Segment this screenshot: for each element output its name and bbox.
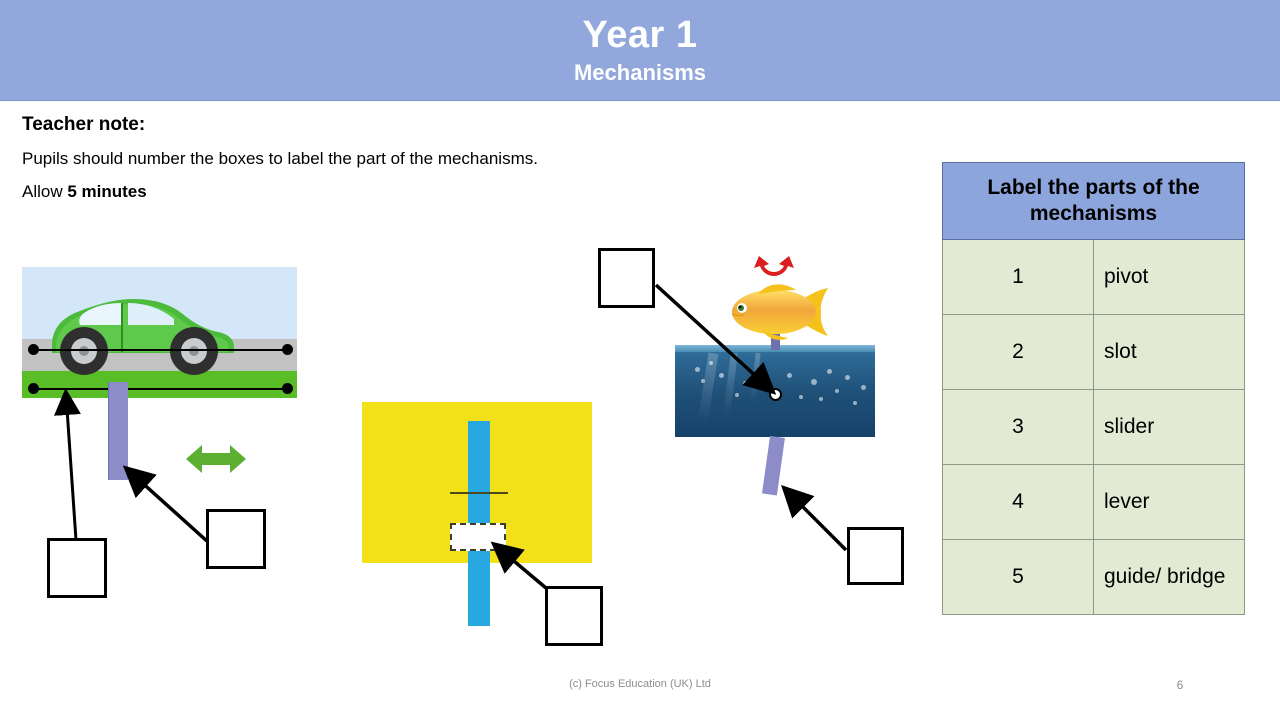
table-row: 2 slot: [943, 315, 1245, 390]
slot-cutout: [450, 523, 506, 551]
guide-dot-upper-right: [282, 344, 293, 355]
row-label: lever: [1094, 465, 1245, 540]
connector-fish-lever: [786, 490, 846, 550]
bubble: [701, 379, 705, 383]
teacher-note-line-2: Allow 5 minutes: [22, 179, 802, 204]
allow-duration: 5 minutes: [67, 182, 146, 201]
connector-car-guide: [66, 394, 76, 540]
teacher-note-heading: Teacher note:: [22, 112, 802, 138]
light-ray: [698, 353, 719, 424]
parts-label-table: Label the parts of the mechanisms 1 pivo…: [942, 162, 1245, 615]
row-label: slider: [1094, 390, 1245, 465]
bubble: [743, 381, 748, 386]
car-slider-strip: [108, 382, 128, 480]
fish-lever-strip: [762, 436, 785, 496]
answer-box-car-guide[interactable]: [47, 538, 107, 598]
slide-header-banner: Year 1 Mechanisms: [0, 0, 1280, 101]
bubble: [861, 385, 866, 390]
bubble: [845, 375, 850, 380]
light-ray: [750, 353, 760, 403]
page-subtitle: Mechanisms: [574, 60, 706, 86]
table-row: 3 slider: [943, 390, 1245, 465]
row-number: 3: [943, 390, 1094, 465]
bubble: [719, 373, 724, 378]
row-number: 5: [943, 540, 1094, 615]
bubble: [695, 367, 700, 372]
row-label: slot: [1094, 315, 1245, 390]
answer-box-fish-lever[interactable]: [847, 527, 904, 585]
guide-line-lower: [33, 388, 288, 390]
row-label: pivot: [1094, 240, 1245, 315]
bubble: [853, 401, 857, 405]
light-ray: [723, 353, 738, 415]
row-number: 2: [943, 315, 1094, 390]
row-number: 4: [943, 465, 1094, 540]
bubble: [811, 379, 817, 385]
bubble: [835, 389, 839, 393]
table-header-title: Label the parts of the mechanisms: [943, 163, 1245, 240]
table-row: 4 lever: [943, 465, 1245, 540]
teacher-note-line-1: Pupils should number the boxes to label …: [22, 146, 802, 171]
footer-credit: (c) Focus Education (UK) Ltd: [0, 678, 1280, 690]
slot-strip-bottom: [468, 563, 490, 626]
answer-box-slot[interactable]: [545, 586, 603, 646]
answer-box-fish-pivot[interactable]: [598, 248, 655, 308]
connector-car-slider: [128, 470, 208, 542]
double-arrow-curved-icon: [750, 256, 798, 280]
table-row: 1 pivot: [943, 240, 1245, 315]
table-header-row: Label the parts of the mechanisms: [943, 163, 1245, 240]
bubble: [787, 373, 792, 378]
allow-text: Allow: [22, 182, 67, 201]
bubble: [799, 395, 803, 399]
teacher-note: Teacher note: Pupils should number the b…: [22, 112, 802, 204]
footer-page-number: 6: [1150, 678, 1210, 692]
guide-dot-upper-left: [28, 344, 39, 355]
table-row: 5 guide/ bridge: [943, 540, 1245, 615]
bubble: [709, 361, 713, 365]
row-label: guide/ bridge: [1094, 540, 1245, 615]
page-title: Year 1: [583, 14, 698, 56]
fish-icon: [722, 280, 832, 342]
car-slider-illustration: [22, 267, 297, 398]
bubble: [819, 397, 823, 401]
guide-dot-lower-left: [28, 383, 39, 394]
bubble: [827, 369, 832, 374]
slot-strip-top: [468, 421, 490, 494]
guide-dot-lower-right: [282, 383, 293, 394]
bubble: [735, 393, 739, 397]
guide-line-upper: [33, 349, 288, 351]
double-arrow-horizontal-icon: [186, 440, 246, 478]
answer-box-car-slider[interactable]: [206, 509, 266, 569]
green-car-icon: [22, 267, 297, 398]
pivot-point-dot: [769, 388, 782, 401]
row-number: 1: [943, 240, 1094, 315]
